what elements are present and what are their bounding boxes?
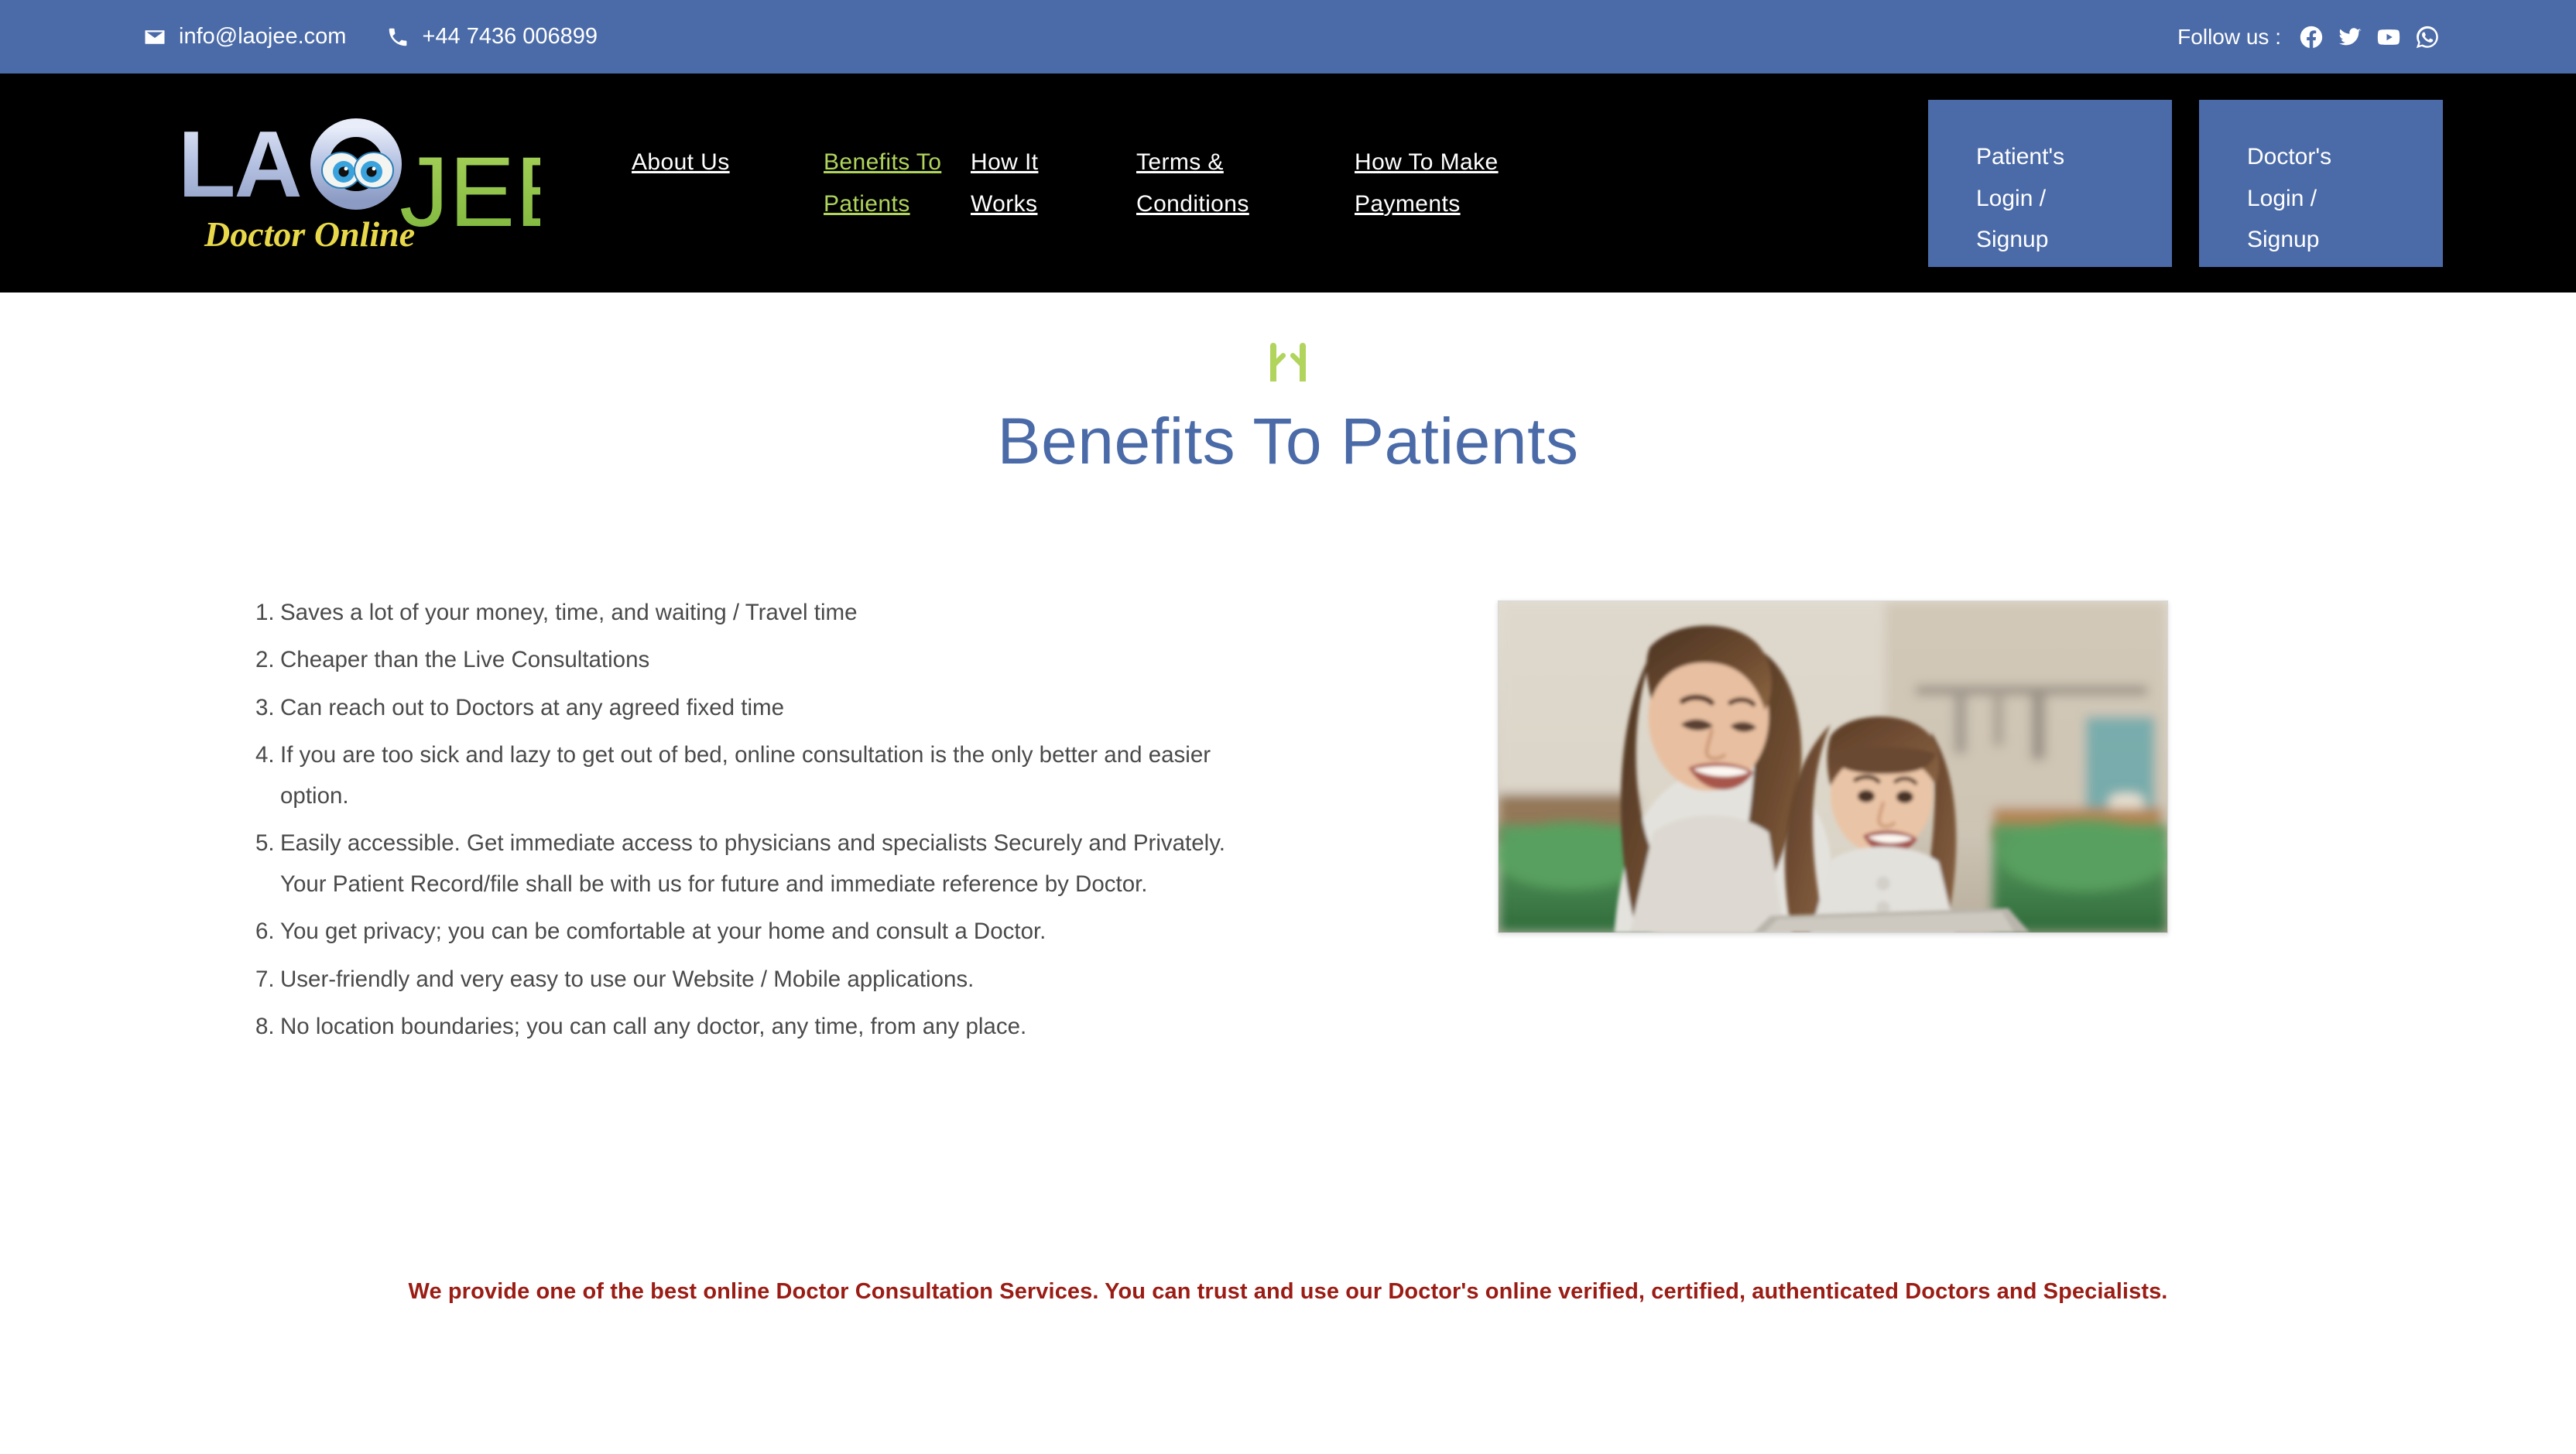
helping-hands-icon: [1266, 343, 1310, 385]
logo-jee-text: JEE: [399, 137, 540, 248]
trust-tagline: We provide one of the best online Doctor…: [0, 1279, 2576, 1305]
benefit-item: You get privacy; you can be comfortable …: [255, 912, 1277, 953]
nav-link-list: About Us Benefits To Patients How It Wor…: [632, 142, 1548, 224]
youtube-icon[interactable]: [2376, 24, 2402, 50]
email-text: info@laojee.com: [179, 24, 346, 50]
benefit-item: Saves a lot of your money, time, and wai…: [255, 593, 1277, 634]
patient-login-signup-button[interactable]: Patient's Login / Signup: [1928, 100, 2172, 267]
nav-item-benefits-to-patients[interactable]: Benefits To Patients: [824, 142, 971, 224]
nav-item-how-it-works[interactable]: How It Works: [971, 142, 1136, 224]
main-navigation-bar: LA JEE Doctor Online About Us Benefits T…: [0, 74, 2576, 293]
follow-us-group: Follow us :: [2177, 24, 2441, 50]
doctor-login-signup-button[interactable]: Doctor's Login / Signup: [2199, 100, 2443, 267]
auth-button-group: Patient's Login / Signup Doctor's Login …: [1928, 100, 2443, 267]
top-utility-bar: info@laojee.com +44 7436 006899 Follow u…: [0, 0, 2576, 74]
follow-us-label: Follow us :: [2177, 25, 2281, 50]
phone-icon: [386, 26, 409, 49]
contact-info-group: info@laojee.com +44 7436 006899: [143, 24, 598, 50]
whatsapp-icon[interactable]: [2414, 24, 2441, 50]
facebook-icon[interactable]: [2298, 24, 2324, 50]
benefit-item: If you are too sick and lazy to get out …: [255, 735, 1277, 816]
logo-eyes: [322, 152, 393, 188]
logo-tagline-text: Doctor Online: [204, 214, 415, 254]
twitter-icon[interactable]: [2337, 24, 2363, 50]
social-icon-list: [2298, 24, 2441, 50]
nav-item-how-to-make-payments[interactable]: How To Make Payments: [1355, 142, 1548, 224]
mother-daughter-laptop-photo: [1499, 601, 2167, 932]
benefit-item: Cheaper than the Live Consultations: [255, 640, 1277, 681]
page-hero: Benefits To Patients: [0, 293, 2576, 481]
phone-contact[interactable]: +44 7436 006899: [386, 24, 598, 50]
site-logo[interactable]: LA JEE Doctor Online: [176, 102, 540, 265]
benefit-item: No location boundaries; you can call any…: [255, 1007, 1277, 1048]
logo-lao-text: LA: [178, 111, 301, 217]
benefits-photo-frame: [1498, 600, 2168, 933]
email-icon: [143, 26, 166, 49]
page-title: Benefits To Patients: [0, 402, 2576, 481]
email-contact[interactable]: info@laojee.com: [143, 24, 346, 50]
nav-item-terms-conditions[interactable]: Terms & Conditions: [1136, 142, 1355, 224]
page-content: Benefits To Patients Saves a lot of your…: [0, 293, 2576, 1305]
benefit-item: Can reach out to Doctors at any agreed f…: [255, 688, 1277, 729]
nav-item-about-us[interactable]: About Us: [632, 142, 824, 183]
phone-text: +44 7436 006899: [422, 24, 598, 50]
benefits-list: Saves a lot of your money, time, and wai…: [255, 593, 1277, 1055]
benefit-item: Easily accessible. Get immediate access …: [255, 823, 1277, 905]
benefits-content-row: Saves a lot of your money, time, and wai…: [0, 593, 2576, 1055]
benefit-item: User-friendly and very easy to use our W…: [255, 960, 1277, 1001]
